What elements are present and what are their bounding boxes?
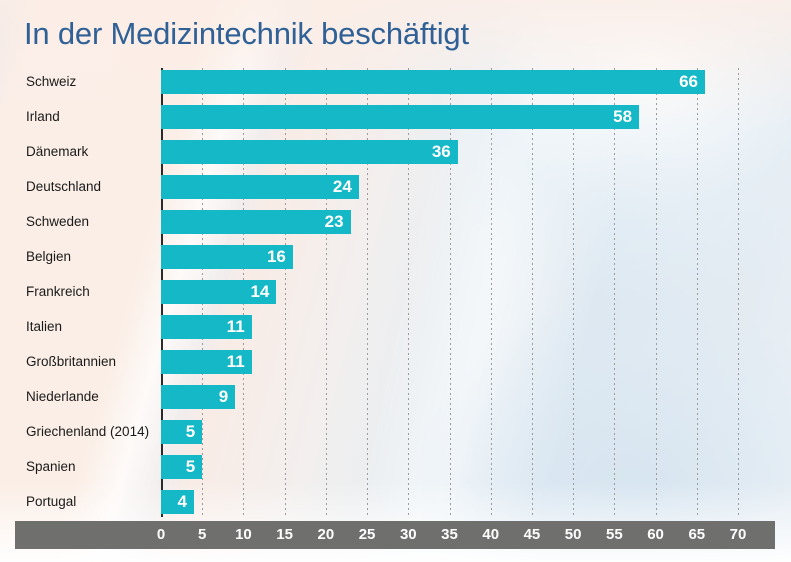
bar-value-label: 5	[161, 455, 202, 479]
category-label: Deutschland	[0, 175, 150, 199]
category-label: Portugal	[0, 490, 150, 514]
chart-container: In der Medizintechnik beschäftigt Schwei…	[0, 0, 791, 562]
category-row: Griechenland (2014)	[0, 418, 150, 453]
category-label: Belgien	[0, 245, 150, 269]
category-row: Belgien	[0, 243, 150, 278]
category-row: Irland	[0, 103, 150, 138]
bar-row: 11	[161, 313, 738, 348]
bar-value-label: 16	[161, 245, 293, 269]
category-row: Schweden	[0, 208, 150, 243]
bar-value-label: 24	[161, 175, 359, 199]
bar-row: 14	[161, 278, 738, 313]
bar-value-label: 4	[161, 490, 194, 514]
axis-tick-label: 5	[198, 521, 206, 549]
bar-value-label: 14	[161, 280, 276, 304]
axis-tick-label: 40	[482, 521, 499, 549]
chart-title: In der Medizintechnik beschäftigt	[24, 16, 469, 52]
bar-value-label: 9	[161, 385, 235, 409]
bar-row: 66	[161, 68, 738, 103]
category-label: Schweden	[0, 210, 150, 234]
axis-tick-label: 10	[235, 521, 252, 549]
bar-value-label: 23	[161, 210, 351, 234]
bar-row: 16	[161, 243, 738, 278]
gridline	[738, 68, 739, 517]
axis-tick-label: 70	[730, 521, 747, 549]
bar-series: 6658362423161411119554	[161, 68, 738, 523]
bar-row: 24	[161, 173, 738, 208]
category-label: Schweiz	[0, 70, 150, 94]
category-row: Deutschland	[0, 173, 150, 208]
bar-row: 5	[161, 453, 738, 488]
bar-value-label: 36	[161, 140, 458, 164]
category-label: Irland	[0, 105, 150, 129]
axis-tick-label: 20	[318, 521, 335, 549]
axis-tick-label: 25	[359, 521, 376, 549]
bar-value-label: 11	[161, 315, 252, 339]
axis-tick-label: 60	[647, 521, 664, 549]
axis-tick-label: 0	[157, 521, 165, 549]
category-axis-labels: SchweizIrlandDänemarkDeutschlandSchweden…	[0, 68, 150, 523]
bar-value-label: 58	[161, 105, 639, 129]
axis-tick-label: 50	[565, 521, 582, 549]
category-label: Griechenland (2014)	[0, 420, 150, 444]
bar-row: 11	[161, 348, 738, 383]
bar-value-label: 66	[161, 70, 705, 94]
category-row: Niederlande	[0, 383, 150, 418]
category-row: Schweiz	[0, 68, 150, 103]
bar-value-label: 5	[161, 420, 202, 444]
bar-row: 36	[161, 138, 738, 173]
value-axis-band: 0510152025303540455055606570	[15, 521, 775, 549]
category-label: Niederlande	[0, 385, 150, 409]
bar-row: 23	[161, 208, 738, 243]
axis-tick-label: 35	[441, 521, 458, 549]
category-row: Portugal	[0, 488, 150, 523]
axis-tick-label: 30	[400, 521, 417, 549]
axis-tick-label: 55	[606, 521, 623, 549]
axis-tick-label: 15	[276, 521, 293, 549]
category-label: Dänemark	[0, 140, 150, 164]
bar-value-label: 11	[161, 350, 252, 374]
category-row: Dänemark	[0, 138, 150, 173]
bar-row: 58	[161, 103, 738, 138]
axis-tick-label: 45	[524, 521, 541, 549]
bar-row: 5	[161, 418, 738, 453]
plot-area: 6658362423161411119554	[161, 68, 738, 517]
category-label: Großbritannien	[0, 350, 150, 374]
category-row: Frankreich	[0, 278, 150, 313]
category-label: Spanien	[0, 455, 150, 479]
category-label: Frankreich	[0, 280, 150, 304]
bar-row: 9	[161, 383, 738, 418]
bar-row: 4	[161, 488, 738, 523]
category-row: Spanien	[0, 453, 150, 488]
category-row: Italien	[0, 313, 150, 348]
category-label: Italien	[0, 315, 150, 339]
axis-tick-label: 65	[688, 521, 705, 549]
category-row: Großbritannien	[0, 348, 150, 383]
